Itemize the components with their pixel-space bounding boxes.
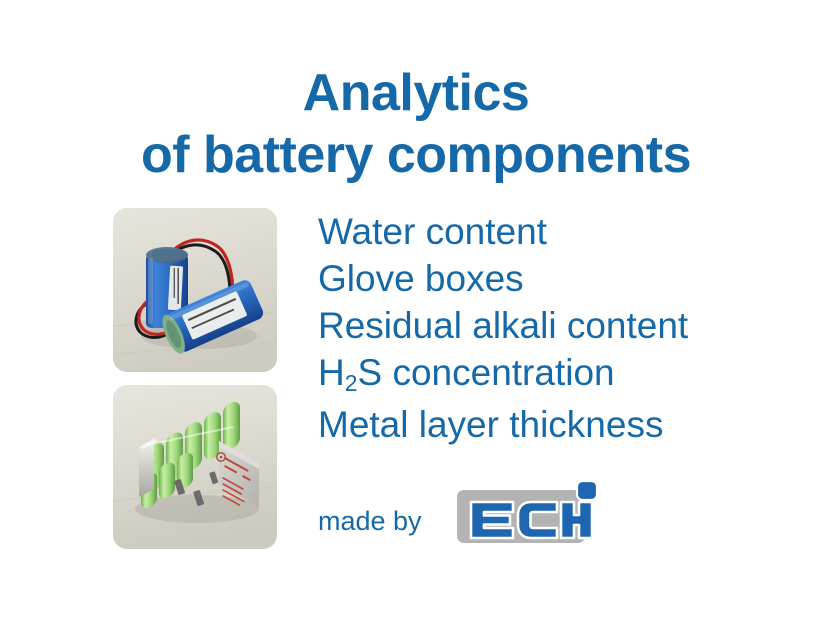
lithium-ion-cells-illustration (113, 208, 277, 372)
feature-item-h2s-concentration: H2S concentration (318, 349, 818, 401)
nimh-battery-pack-illustration (113, 385, 277, 549)
page-title: Analytics of battery components (0, 62, 832, 186)
ech-logo-dot (577, 481, 597, 500)
h2s-formula-subscript: 2 (345, 370, 358, 396)
ech-logo (457, 481, 599, 543)
lithium-ion-cells-photo (113, 208, 277, 372)
feature-item-water-content: Water content (318, 208, 818, 255)
made-by-row: made by (318, 478, 738, 550)
ech-letter-e (471, 502, 513, 538)
h2s-formula-prefix: H (318, 352, 345, 393)
page-title-line-1: Analytics (0, 62, 832, 124)
feature-item-glove-boxes: Glove boxes (318, 255, 818, 302)
feature-item-metal-layer-thickness: Metal layer thickness (318, 401, 818, 448)
nimh-battery-pack-photo (113, 385, 277, 549)
made-by-label: made by (318, 506, 422, 537)
h2s-formula-suffix: S concentration (358, 352, 615, 393)
feature-list: Water content Glove boxes Residual alkal… (318, 208, 818, 448)
ech-logo-mark (457, 481, 599, 543)
page-title-line-2: of battery components (0, 124, 832, 186)
feature-item-residual-alkali-content: Residual alkali content (318, 302, 818, 349)
